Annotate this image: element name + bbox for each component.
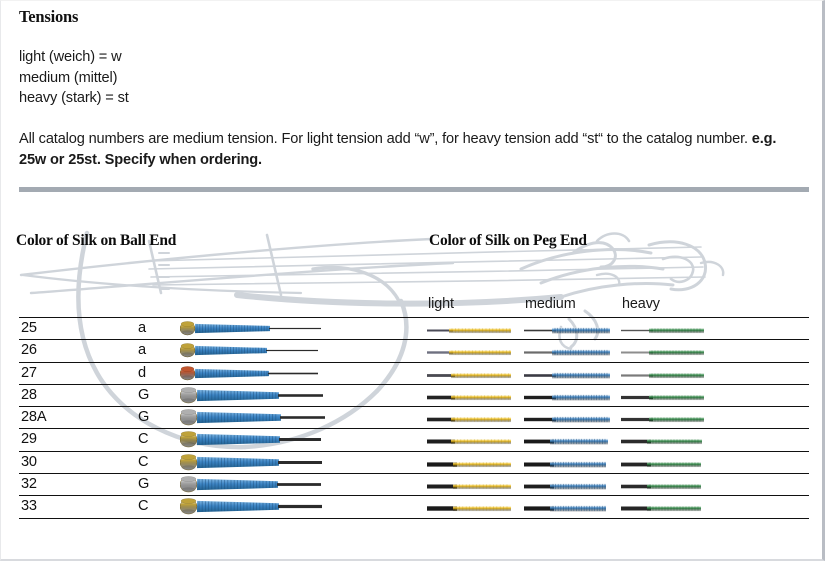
column-header-heavy: heavy bbox=[622, 296, 660, 312]
table-row: 33C bbox=[19, 495, 809, 518]
peg-end-silk-light-swatch bbox=[427, 501, 513, 519]
string-note: G bbox=[138, 476, 149, 492]
ball-end-string-icon bbox=[180, 497, 329, 521]
peg-end-silk-light-swatch bbox=[427, 390, 513, 408]
peg-end-silk-heavy-swatch bbox=[621, 390, 706, 408]
string-note: C bbox=[138, 454, 149, 470]
table-row: 26a bbox=[19, 339, 809, 361]
tension-legend: light (weich) = w medium (mittel) heavy … bbox=[19, 47, 129, 109]
string-note: C bbox=[138, 498, 149, 514]
table-row: 32G bbox=[19, 473, 809, 495]
peg-end-silk-heavy-swatch bbox=[621, 323, 706, 341]
peg-end-silk-medium-swatch bbox=[524, 345, 612, 363]
peg-end-silk-light-swatch bbox=[427, 412, 513, 430]
peg-end-silk-heavy-swatch bbox=[621, 412, 706, 430]
table-row: 30C bbox=[19, 451, 809, 473]
peg-end-silk-light-swatch bbox=[427, 368, 513, 386]
peg-end-silk-light-swatch bbox=[427, 434, 513, 452]
peg-end-silk-medium-swatch bbox=[524, 479, 608, 497]
tension-legend-heavy: heavy (stark) = st bbox=[19, 88, 129, 109]
string-note: d bbox=[138, 365, 146, 381]
catalog-number: 33 bbox=[21, 498, 37, 514]
peg-end-silk-medium-swatch bbox=[524, 434, 610, 452]
peg-end-silk-heavy-swatch bbox=[621, 501, 703, 519]
catalog-note-plain: All catalog numbers are medium tension. … bbox=[19, 131, 752, 147]
catalog-number: 32 bbox=[21, 476, 37, 492]
tension-legend-medium: medium (mittel) bbox=[19, 68, 129, 89]
catalog-number: 29 bbox=[21, 431, 37, 447]
catalog-note: All catalog numbers are medium tension. … bbox=[19, 129, 789, 171]
peg-end-silk-medium-swatch bbox=[524, 501, 608, 519]
string-table: 25a bbox=[19, 317, 809, 519]
string-note: G bbox=[138, 409, 149, 425]
table-row: 29C bbox=[19, 428, 809, 450]
string-note: a bbox=[138, 320, 146, 336]
peg-end-silk-heavy-swatch bbox=[621, 434, 704, 452]
table-row: 27d bbox=[19, 362, 809, 384]
peg-end-silk-light-swatch bbox=[427, 457, 513, 475]
page-title: Tensions bbox=[19, 7, 78, 27]
catalog-number: 26 bbox=[21, 342, 37, 358]
peg-end-silk-heavy-swatch bbox=[621, 345, 706, 363]
table-row: 28G bbox=[19, 384, 809, 406]
peg-end-silk-light-swatch bbox=[427, 323, 513, 341]
string-note: C bbox=[138, 431, 149, 447]
peg-end-silk-light-swatch bbox=[427, 479, 513, 497]
table-row: 28AG bbox=[19, 406, 809, 428]
peg-end-silk-medium-swatch bbox=[524, 412, 612, 430]
string-note: a bbox=[138, 342, 146, 358]
catalog-page: Tensions light (weich) = w medium (mitte… bbox=[0, 0, 825, 561]
catalog-number: 30 bbox=[21, 454, 37, 470]
peg-end-silk-medium-swatch bbox=[524, 323, 612, 341]
heading-peg-end: Color of Silk on Peg End bbox=[429, 232, 587, 250]
catalog-number: 28 bbox=[21, 387, 37, 403]
peg-end-silk-heavy-swatch bbox=[621, 368, 706, 386]
column-header-medium: medium bbox=[525, 296, 576, 312]
column-header-light: light bbox=[428, 296, 454, 312]
catalog-number: 28A bbox=[21, 409, 46, 425]
peg-end-silk-heavy-swatch bbox=[621, 457, 703, 475]
peg-end-silk-medium-swatch bbox=[524, 390, 612, 408]
string-note: G bbox=[138, 387, 149, 403]
table-row: 25a bbox=[19, 317, 809, 339]
section-divider bbox=[19, 187, 809, 192]
peg-end-silk-medium-swatch bbox=[524, 457, 608, 475]
peg-end-silk-light-swatch bbox=[427, 345, 513, 363]
tension-legend-light: light (weich) = w bbox=[19, 47, 129, 68]
peg-end-silk-medium-swatch bbox=[524, 368, 612, 386]
catalog-number: 27 bbox=[21, 365, 37, 381]
heading-ball-end: Color of Silk on Ball End bbox=[16, 232, 176, 250]
catalog-number: 25 bbox=[21, 320, 37, 336]
peg-end-silk-heavy-swatch bbox=[621, 479, 703, 497]
